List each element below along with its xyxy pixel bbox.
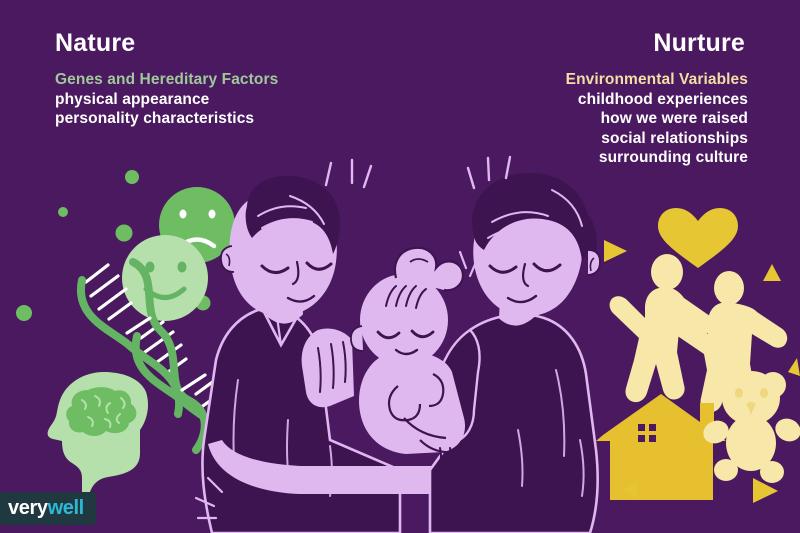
nurture-item-3: social relationships — [566, 129, 748, 149]
gold-triangle-icon — [788, 358, 800, 376]
nurture-heading: Nurture — [653, 31, 745, 56]
gold-triangle-icon — [623, 483, 637, 497]
sad-face-icon — [159, 187, 235, 263]
green-dot-icon — [116, 225, 133, 242]
gold-triangle-icon — [763, 264, 781, 281]
house-icon — [596, 394, 726, 500]
dna-double-helix-icon — [81, 261, 241, 470]
teddy-bear-icon — [700, 371, 800, 483]
nurture-subheading: Environmental Variables — [566, 70, 748, 90]
baby — [351, 248, 476, 462]
nurture-item-4: surrounding culture — [566, 148, 748, 168]
green-dots-group — [16, 170, 211, 321]
heart-icon — [658, 208, 738, 268]
parents-holding-baby-illustration — [196, 157, 600, 533]
nurture-text-block: Environmental Variables childhood experi… — [566, 70, 748, 168]
gold-triangles-group — [604, 240, 800, 503]
nature-item-1: physical appearance — [55, 90, 278, 110]
happy-face-icon — [122, 235, 208, 321]
gold-triangle-icon — [604, 240, 627, 262]
nature-text-block: Genes and Hereditary Factors physical ap… — [55, 70, 278, 129]
verywell-logo: verywell — [0, 492, 96, 525]
green-dot-icon — [16, 305, 32, 321]
nature-item-2: personality characteristics — [55, 109, 278, 129]
head-with-brain-icon — [48, 372, 148, 500]
nature-subheading: Genes and Hereditary Factors — [55, 70, 278, 90]
nurture-item-2: how we were raised — [566, 109, 748, 129]
two-people-holding-hands-icon — [610, 254, 788, 412]
infographic-canvas: Nature Genes and Hereditary Factors phys… — [0, 0, 800, 533]
nature-heading: Nature — [55, 31, 135, 56]
logo-text-very: very — [8, 497, 48, 519]
parent-right — [417, 157, 600, 533]
logo-text-well: well — [48, 497, 84, 519]
green-dot-icon — [125, 170, 139, 184]
green-dot-icon — [196, 296, 211, 311]
parent-left — [196, 160, 562, 533]
gold-triangle-icon — [753, 478, 778, 503]
green-dot-icon — [58, 207, 68, 217]
nurture-item-1: childhood experiences — [566, 90, 748, 110]
